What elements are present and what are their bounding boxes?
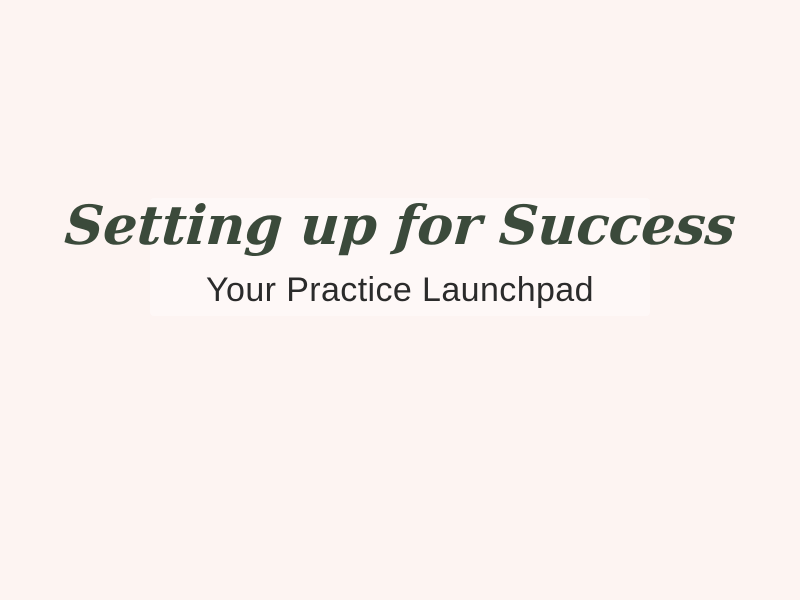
slide-subtitle: Your Practice Launchpad (206, 270, 594, 311)
title-block: Setting up for Success Your Practice Lau… (0, 196, 800, 311)
presentation-slide: Setting up for Success Your Practice Lau… (0, 0, 800, 600)
slide-title: Setting up for Success (63, 196, 737, 254)
